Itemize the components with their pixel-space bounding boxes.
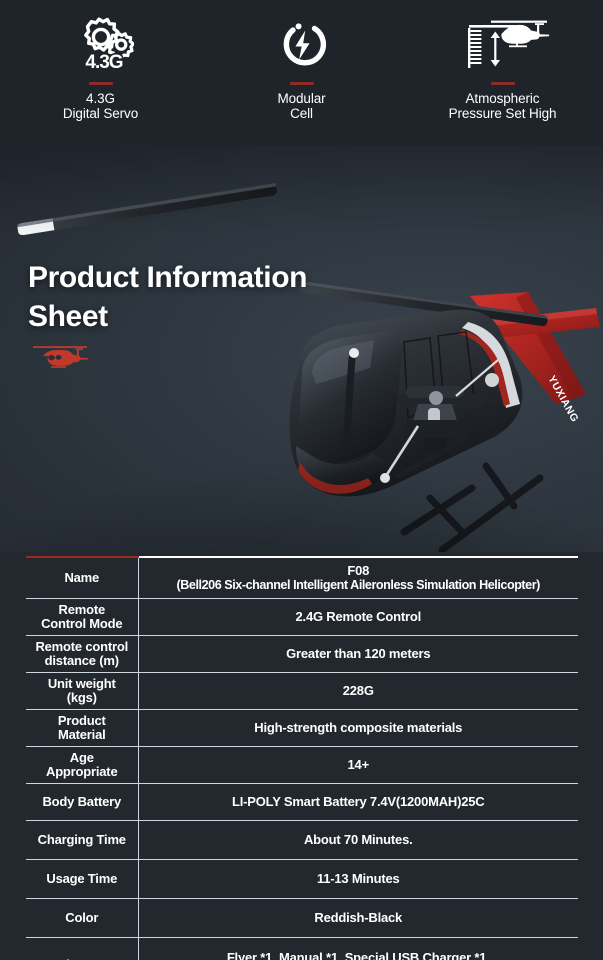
spec-table-wrapper: Name F08 (Bell206 Six-channel Intelligen… (26, 556, 578, 960)
spec-value: F08 (Bell206 Six-channel Intelligent Ail… (138, 557, 578, 599)
lightning-cell-icon (274, 16, 330, 74)
spec-key-text: Name (64, 570, 99, 585)
helicopter-altitude-icon (451, 16, 555, 74)
feature-divider (89, 82, 113, 85)
red-helicopter-logo (30, 342, 102, 368)
page-title-block: Product Information Sheet (28, 258, 328, 373)
page-title-line2: Sheet (28, 297, 328, 336)
spec-key-line1: Unit weight (28, 677, 136, 691)
feature-atmospheric-pressure: Atmospheric Pressure Set High (402, 0, 603, 121)
feature-label-line1: 4.3G (86, 91, 115, 106)
spec-key: Name (26, 557, 138, 599)
spec-value-line2: (Bell206 Six-channel Intelligent Aileron… (141, 578, 577, 592)
feature-digital-servo: 4.3G 4.3G Digital Servo (0, 0, 201, 121)
table-row: Age Appropriate 14+ (26, 747, 578, 784)
table-row: Body Battery LI-POLY Smart Battery 7.4V(… (26, 784, 578, 821)
spec-value: 11-13 Minutes (138, 860, 578, 899)
table-row: Name F08 (Bell206 Six-channel Intelligen… (26, 557, 578, 599)
spec-key-line2: (kgs) (28, 691, 136, 705)
gear-43g-icon: 4.3G (68, 16, 134, 74)
spec-key-line2: Control Mode (28, 617, 136, 631)
table-row: Product Material High-strength composite… (26, 710, 578, 747)
spec-value: Greater than 120 meters (138, 636, 578, 673)
spec-key: Remote Control Mode (26, 599, 138, 636)
spec-key: Age Appropriate (26, 747, 138, 784)
table-row: Remote Control Mode 2.4G Remote Control (26, 599, 578, 636)
table-row: Charging Time About 70 Minutes. (26, 821, 578, 860)
spec-key: Remote control distance (m) (26, 636, 138, 673)
spec-key-line1: Remote control (28, 640, 136, 654)
spec-value: 228G (138, 673, 578, 710)
feature-divider (491, 82, 515, 85)
spec-value: High-strength composite materials (138, 710, 578, 747)
table-row: Color Reddish-Black (26, 899, 578, 938)
spec-key: Replacement (26, 938, 138, 960)
table-row: Remote control distance (m) Greater than… (26, 636, 578, 673)
table-row: Replacement Flyer *1, Manual *1, Special… (26, 938, 578, 960)
spec-value: 14+ (138, 747, 578, 784)
spec-key-line1: Product (28, 714, 136, 728)
product-information-sheet: 4.3G 4.3G Digital Servo Modular (0, 0, 603, 960)
spec-key: Body Battery (26, 784, 138, 821)
table-row: Usage Time 11-13 Minutes (26, 860, 578, 899)
spec-value-line1: Flyer *1, Manual *1, Special USB Charger… (141, 951, 577, 960)
spec-value: About 70 Minutes. (138, 821, 578, 860)
spec-key: Color (26, 899, 138, 938)
feature-modular-cell: Modular Cell (201, 0, 402, 121)
spec-key-line2: distance (m) (28, 654, 136, 668)
feature-label-line1: Atmospheric (466, 91, 540, 106)
spec-key-line1: Age (28, 751, 136, 765)
page-title-line1: Product Information (28, 258, 328, 297)
feature-label: 4.3G Digital Servo (63, 91, 138, 121)
feature-label-line2: Cell (277, 106, 325, 121)
table-row: Unit weight (kgs) 228G (26, 673, 578, 710)
feature-label-line1: Modular (277, 91, 325, 106)
spec-table: Name F08 (Bell206 Six-channel Intelligen… (26, 556, 578, 960)
spec-value: Reddish-Black (138, 899, 578, 938)
spec-key-line2: Material (28, 728, 136, 742)
feature-divider (290, 82, 314, 85)
spec-key: Usage Time (26, 860, 138, 899)
spec-key: Unit weight (kgs) (26, 673, 138, 710)
feature-label-line2: Pressure Set High (449, 106, 557, 121)
feature-label-line2: Digital Servo (63, 106, 138, 121)
feature-strip: 4.3G 4.3G Digital Servo Modular (0, 0, 603, 146)
page-title: Product Information Sheet (28, 258, 328, 336)
spec-value-line1: F08 (141, 564, 577, 578)
spec-key-line2: Appropriate (28, 765, 136, 779)
feature-label: Atmospheric Pressure Set High (449, 91, 557, 121)
feature-label: Modular Cell (277, 91, 325, 121)
spec-key: Charging Time (26, 821, 138, 860)
landing-skid (404, 466, 540, 550)
spec-value: LI-POLY Smart Battery 7.4V(1200MAH)25C (138, 784, 578, 821)
spec-value: 2.4G Remote Control (138, 599, 578, 636)
svg-text:4.3G: 4.3G (85, 52, 122, 73)
spec-key-line1: Remote (28, 603, 136, 617)
spec-key: Product Material (26, 710, 138, 747)
spec-value: Flyer *1, Manual *1, Special USB Charger… (138, 938, 578, 960)
